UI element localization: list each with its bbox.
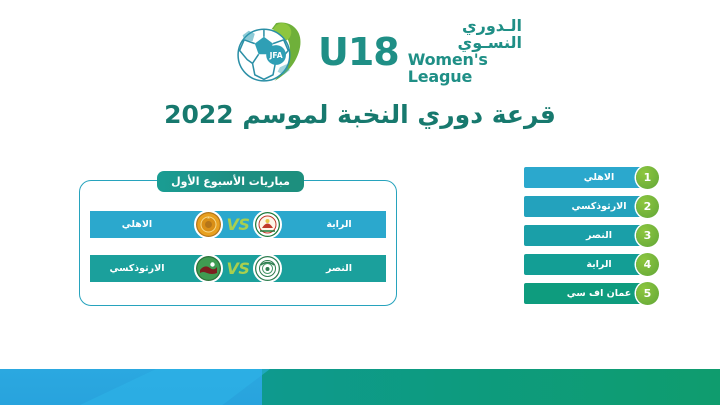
first-week-matches-card: الراية VS [79, 180, 397, 306]
poster-canvas: JFA الـدوري النسـوي Women's League U18 ق… [0, 0, 720, 405]
rank-bar: عمان اف سي [524, 283, 652, 304]
league-name-english: Women's League [408, 52, 522, 86]
rank-bar: النصر [524, 225, 652, 246]
al-ahli-crest-icon [194, 210, 223, 239]
page-title: قرعة دوري النخبة لموسم 2022 [0, 100, 720, 129]
match-right-team: الارثوذكسي [90, 263, 184, 274]
league-name-arabic: الـدوري النسـوي [408, 18, 522, 52]
al-raya-crest-icon [253, 210, 282, 239]
rank-team-name: الاهلي [584, 172, 614, 183]
versus-label: VS [225, 259, 252, 278]
rank-team-name: الارثوذكسي [572, 201, 627, 212]
list-item[interactable]: الارثوذكسي 2 [524, 196, 674, 217]
u18-label: U18 [318, 33, 399, 71]
standings-list: الاهلي 1 الارثوذكسي 2 النصر 3 الراية 4 ع… [524, 167, 674, 312]
al-nasr-crest-icon [253, 254, 282, 283]
rank-bar: الراية [524, 254, 652, 275]
band-diagonal-accent [80, 369, 270, 405]
list-item[interactable]: الاهلي 1 [524, 167, 674, 188]
rank-bar: الارثوذكسي [524, 196, 652, 217]
band-blue [0, 369, 262, 405]
list-item[interactable]: الراية 4 [524, 254, 674, 275]
orthodoxi-crest-icon [194, 254, 223, 283]
list-item[interactable]: النصر 3 [524, 225, 674, 246]
rank-team-name: النصر [586, 230, 612, 241]
rank-team-name: عمان اف سي [567, 288, 631, 299]
rank-number-badge: 2 [636, 195, 659, 218]
match-right-team: الاهلي [90, 219, 184, 230]
rank-bar: الاهلي [524, 167, 652, 188]
match-row: النصر VS [90, 255, 386, 282]
rank-number-badge: 1 [636, 166, 659, 189]
rank-number-badge: 3 [636, 224, 659, 247]
league-logo-block: JFA الـدوري النسـوي Women's League U18 [232, 14, 522, 90]
league-wordmark: الـدوري النسـوي Women's League U18 [318, 18, 522, 85]
jfa-mark-label: JFA [269, 51, 283, 60]
rank-number-badge: 4 [636, 253, 659, 276]
jfa-football-logo-icon: JFA [232, 17, 308, 87]
match-row: الراية VS [90, 211, 386, 238]
list-item[interactable]: عمان اف سي 5 [524, 283, 674, 304]
match-left-team: النصر [292, 263, 386, 274]
match-card-header-badge: مباريات الأسبوع الأول [157, 171, 304, 192]
match-left-team: الراية [292, 219, 386, 230]
rank-team-name: الراية [586, 259, 611, 270]
match-center-group: VS [184, 211, 292, 238]
bottom-decoration-band [0, 369, 720, 405]
match-center-group: VS [184, 255, 292, 282]
versus-label: VS [225, 215, 252, 234]
rank-number-badge: 5 [636, 282, 659, 305]
